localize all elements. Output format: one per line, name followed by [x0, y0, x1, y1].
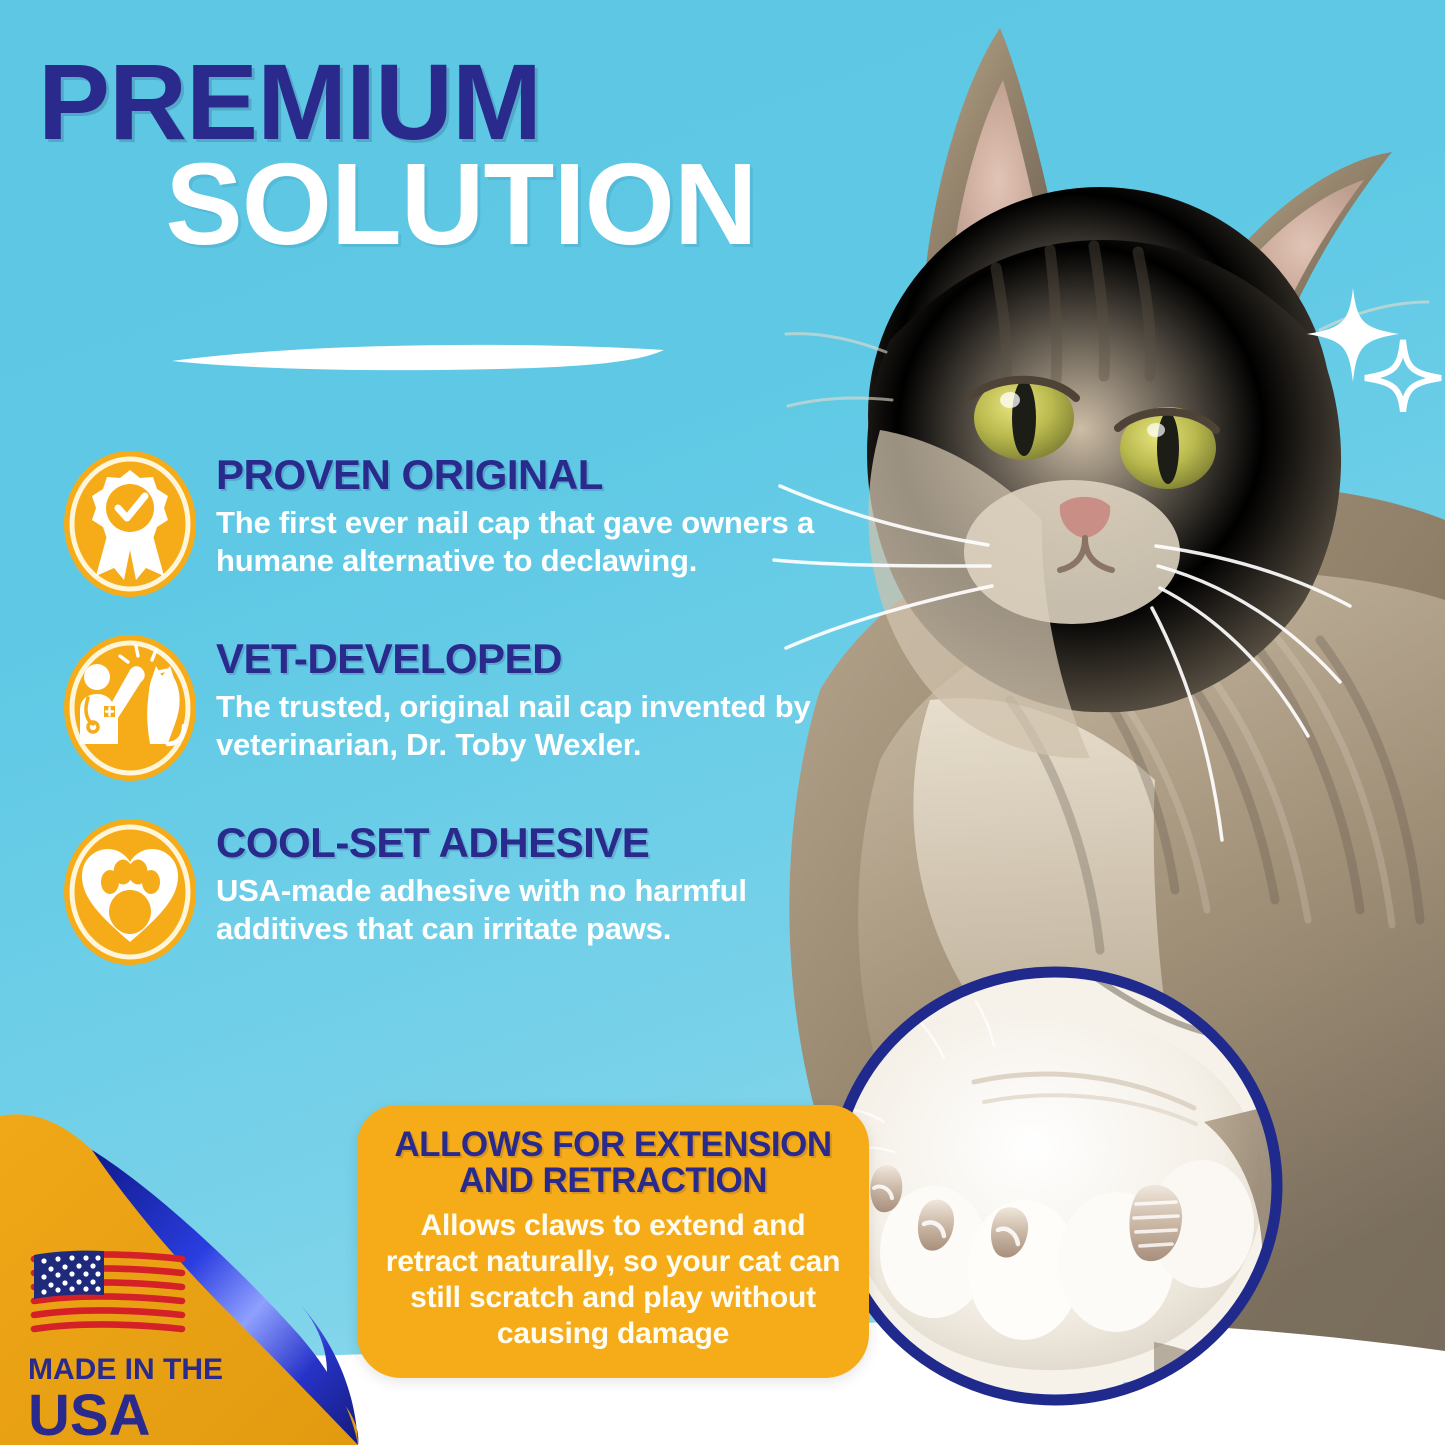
headline-line-2: SOLUTION: [38, 151, 838, 258]
product-infographic: PREMIUM SOLUTION PROVEN ORIGINAL The fir…: [0, 0, 1445, 1445]
feature-title: VET-DEVELOPED: [216, 638, 850, 680]
headline-block: PREMIUM SOLUTION: [38, 52, 838, 258]
feature-item-vet-developed: VET-DEVELOPED The trusted, original nail…: [60, 632, 850, 784]
callout-title: ALLOWS FOR EXTENSION AND RETRACTION: [383, 1127, 843, 1198]
feature-title: PROVEN ORIGINAL: [216, 454, 850, 496]
feature-item-cool-set-adhesive: COOL-SET ADHESIVE USA-made adhesive with…: [60, 816, 850, 968]
sparkle-star-filled-icon: [1307, 288, 1399, 382]
extension-retraction-callout: ALLOWS FOR EXTENSION AND RETRACTION Allo…: [357, 1105, 869, 1378]
american-flag-icon: [28, 1245, 188, 1337]
paw-closeup-callout: [824, 962, 1286, 1410]
sparkle-star-outline-icon: [1365, 340, 1441, 412]
feature-list: PROVEN ORIGINAL The first ever nail cap …: [60, 448, 850, 1000]
veterinarian-high-five-cat-icon: [60, 632, 200, 784]
usa-label: USA: [28, 1387, 278, 1445]
feature-text-vet-developed: VET-DEVELOPED The trusted, original nail…: [216, 632, 850, 764]
award-ribbon-check-icon: [60, 448, 200, 600]
swoosh-underline-icon: [168, 334, 668, 374]
feature-item-proven-original: PROVEN ORIGINAL The first ever nail cap …: [60, 448, 850, 600]
feature-text-cool-set-adhesive: COOL-SET ADHESIVE USA-made adhesive with…: [216, 816, 850, 948]
made-in-usa-text: MADE IN THE USA: [28, 1355, 278, 1445]
feature-body: The first ever nail cap that gave owners…: [216, 504, 850, 580]
heart-paw-print-icon: [60, 816, 200, 968]
feature-body: USA-made adhesive with no harmful additi…: [216, 872, 850, 948]
feature-text-proven-original: PROVEN ORIGINAL The first ever nail cap …: [216, 448, 850, 580]
feature-title: COOL-SET ADHESIVE: [216, 822, 850, 864]
callout-body: Allows claws to extend and retract natur…: [383, 1208, 843, 1352]
headline-line-1: PREMIUM: [38, 52, 838, 151]
made-in-the-label: MADE IN THE: [28, 1355, 278, 1385]
sparkle-decorations: [1295, 282, 1445, 412]
feature-body: The trusted, original nail cap invented …: [216, 688, 850, 764]
